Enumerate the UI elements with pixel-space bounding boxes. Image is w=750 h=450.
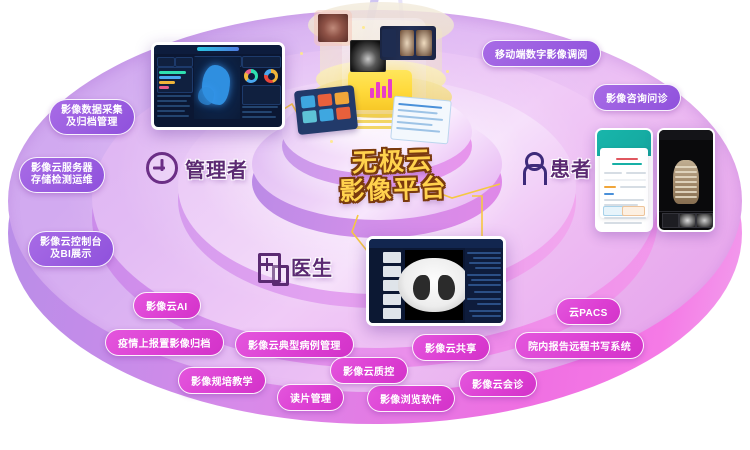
pill-typical-case-management[interactable]: 影像云典型病例管理 bbox=[235, 331, 354, 358]
pill-line2: 存储检测运维 bbox=[31, 175, 93, 186]
app-tiles-screen bbox=[294, 85, 358, 135]
pill-image-cloud-sharing[interactable]: 影像云共享 bbox=[412, 334, 490, 361]
pill-cloud-pacs[interactable]: 云PACS bbox=[556, 298, 621, 325]
mobile-report-phone bbox=[595, 128, 653, 232]
pill-image-cloud-ai[interactable]: 影像云AI bbox=[133, 292, 201, 319]
ct-viewer-screen bbox=[366, 236, 506, 326]
pill-line2: 及BI展示 bbox=[50, 249, 92, 260]
role-administrator[interactable]: 管理者 bbox=[146, 152, 248, 184]
pill-epidemic-report-archive[interactable]: 疫情上报置影像归档 bbox=[105, 329, 224, 356]
file-plus-icon bbox=[258, 253, 284, 281]
role-administrator-label: 管理者 bbox=[185, 154, 248, 183]
platform-title: 无极云 影像平台 bbox=[317, 145, 469, 206]
pill-image-cloud-server[interactable]: 影像云服务器 存储检测运维 bbox=[19, 157, 105, 193]
role-doctor-label: 医生 bbox=[291, 252, 333, 281]
pill-mobile-image-access[interactable]: 移动端数字影像调阅 bbox=[482, 40, 601, 67]
endoscopy-thumbnail bbox=[318, 14, 348, 42]
pill-line1: 影像数据采集 bbox=[61, 105, 123, 116]
pill-image-cloud-console[interactable]: 影像云控制台 及BI展示 bbox=[28, 231, 114, 267]
platform-title-line2: 影像平台 bbox=[318, 173, 469, 206]
bi-dashboard-screen bbox=[151, 42, 285, 130]
pill-line2: 及归档管理 bbox=[66, 117, 118, 128]
pill-image-consultation[interactable]: 影像咨询问诊 bbox=[593, 84, 681, 111]
pill-image-cloud-consultation-b[interactable]: 影像云会诊 bbox=[459, 370, 537, 397]
pill-image-browsing-software[interactable]: 影像浏览软件 bbox=[367, 385, 455, 412]
plus-circle-icon bbox=[146, 152, 178, 184]
pill-line1: 影像云服务器 bbox=[31, 163, 93, 174]
pill-image-data-collection[interactable]: 影像数据采集 及归档管理 bbox=[49, 99, 135, 135]
report-form-screen bbox=[390, 96, 452, 145]
pill-imaging-training-education[interactable]: 影像规培教学 bbox=[178, 367, 266, 394]
bar-chart-icon bbox=[370, 78, 396, 98]
infographic-canvas: 管理者 医生 患者 无极云 影像平台 影像数据采集 及归档管理 影像云服务器 存… bbox=[0, 0, 750, 450]
pill-line1: 影像云控制台 bbox=[40, 237, 102, 248]
role-patient-label: 患者 bbox=[550, 153, 592, 182]
role-doctor[interactable]: 医生 bbox=[258, 252, 333, 281]
xray-workstation-thumbnail bbox=[380, 26, 436, 60]
person-icon bbox=[521, 152, 543, 182]
pill-inhospital-remote-report-system[interactable]: 院内报告远程书写系统 bbox=[515, 332, 644, 359]
pill-image-cloud-quality-control[interactable]: 影像云质控 bbox=[330, 357, 408, 384]
role-patient[interactable]: 患者 bbox=[521, 152, 592, 182]
mobile-3d-viewer-phone bbox=[657, 128, 715, 232]
pill-film-reading-management[interactable]: 读片管理 bbox=[277, 384, 344, 411]
